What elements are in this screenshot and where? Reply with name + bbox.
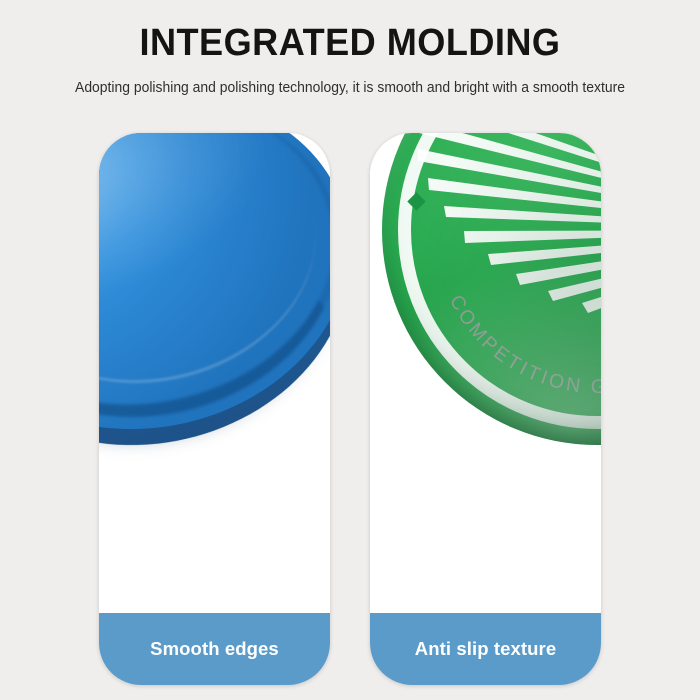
feature-card-smooth-edges[interactable]: Smooth edges	[99, 133, 330, 685]
caption-label: Smooth edges	[150, 638, 279, 660]
caption-bar-anti-slip-texture: Anti slip texture	[370, 613, 601, 685]
green-flying-disc-image: COMPETITION GRADE	[382, 133, 601, 445]
caption-label: Anti slip texture	[415, 638, 557, 660]
page-title: INTEGRATED MOLDING	[18, 21, 683, 65]
feature-card-anti-slip-texture[interactable]: COMPETITION GRADE Anti slip texture	[370, 133, 601, 685]
page-subtitle: Adopting polishing and polishing technol…	[14, 78, 686, 98]
green-disc-photo: COMPETITION GRADE	[370, 133, 601, 613]
blue-disc-photo	[99, 133, 330, 613]
feature-cards-row: Smooth edges	[99, 133, 601, 685]
header: INTEGRATED MOLDING Adopting polishing an…	[0, 0, 700, 98]
blue-flying-disc-image	[99, 133, 330, 501]
green-disc-surface: COMPETITION GRADE	[382, 133, 601, 445]
caption-bar-smooth-edges: Smooth edges	[99, 613, 330, 685]
